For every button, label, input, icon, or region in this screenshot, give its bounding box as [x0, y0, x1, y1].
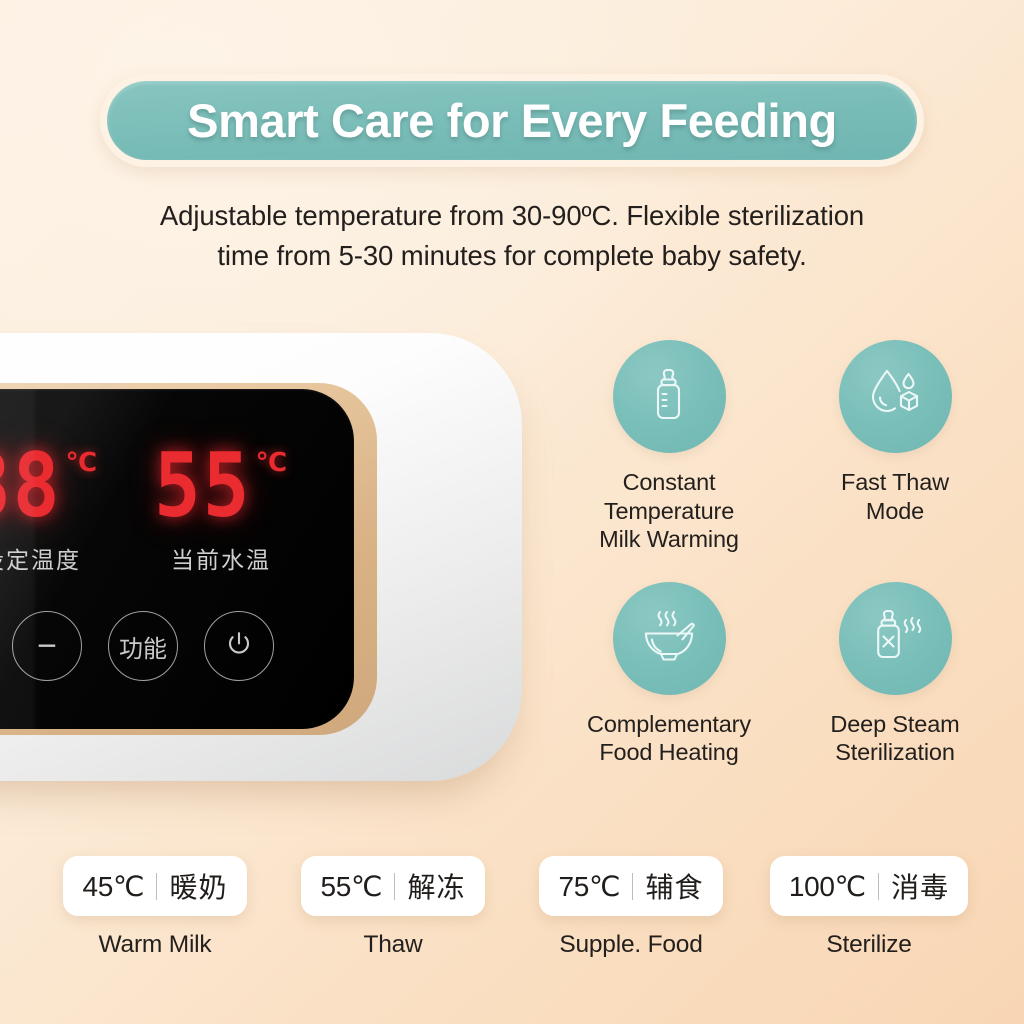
header-pill-ring: Smart Care for Every Feeding — [100, 74, 924, 167]
preset-thaw: 55℃ 解冻 Thaw — [274, 856, 512, 959]
feature-constant-temperature-milk-warming: Constant Temperature Milk Warming — [556, 340, 782, 554]
feature-label-line: Constant — [599, 468, 739, 497]
preset-warm-milk: 45℃ 暖奶 Warm Milk — [36, 856, 274, 959]
feature-label-line: Milk Warming — [599, 525, 739, 554]
steaming-bowl-spoon-icon — [637, 604, 701, 673]
preset-supplementary-food: 75℃ 辅食 Supple. Food — [512, 856, 750, 959]
chip-divider — [394, 873, 395, 900]
current-temperature-value: 55 — [154, 445, 251, 526]
device-display-panel: 38 ℃ 设定温度 55 ℃ 当前水温 + — [0, 389, 354, 729]
preset-cn-label: 消毒 — [891, 866, 949, 906]
set-temperature-unit: ℃ — [66, 447, 97, 478]
infographic-page: Smart Care for Every Feeding Adjustable … — [0, 0, 1024, 1024]
chip-divider — [156, 873, 157, 900]
preset-cn-label: 暖奶 — [169, 866, 227, 906]
minus-button[interactable]: − — [12, 611, 82, 681]
header-pill: Smart Care for Every Feeding — [107, 81, 917, 160]
feature-label-line: Fast Thaw — [841, 468, 949, 497]
preset-cn-label: 解冻 — [407, 866, 465, 906]
water-drop-ice-cube-icon — [863, 362, 927, 431]
preset-sterilize: 100℃ 消毒 Sterilize — [750, 856, 988, 959]
feature-complementary-food-heating: Complementary Food Heating — [556, 582, 782, 767]
set-temperature-value-line: 38 ℃ — [0, 445, 116, 515]
power-button[interactable] — [204, 611, 274, 681]
set-temperature-caption: 设定温度 — [0, 541, 116, 575]
feature-label-line: Temperature — [599, 497, 739, 526]
preset-en-label: Sterilize — [826, 931, 911, 959]
preset-chip[interactable]: 45℃ 暖奶 — [63, 856, 246, 916]
current-temperature-value-line: 55 ℃ — [136, 445, 306, 515]
preset-temp: 55℃ — [320, 870, 382, 903]
feature-label-line: Sterilization — [830, 738, 959, 767]
header-banner: Smart Care for Every Feeding — [0, 74, 1024, 167]
subtitle-line-1: Adjustable temperature from 30-90ºC. Fle… — [0, 196, 1024, 236]
chip-divider — [878, 873, 879, 900]
preset-en-label: Warm Milk — [99, 931, 212, 959]
current-temperature-unit: ℃ — [256, 447, 287, 478]
preset-temp: 45℃ — [82, 870, 144, 903]
feature-fast-thaw-mode: Fast Thaw Mode — [782, 340, 1008, 554]
chip-divider — [632, 873, 633, 900]
feature-label-line: Food Heating — [587, 738, 751, 767]
baby-bottle-icon — [637, 362, 701, 431]
feature-icon-circle — [839, 582, 952, 695]
current-temperature-caption: 当前水温 — [136, 541, 306, 575]
function-label: 功能 — [119, 629, 167, 664]
minus-icon: − — [37, 629, 57, 663]
preset-temperature-row: 45℃ 暖奶 Warm Milk 55℃ 解冻 Thaw 75℃ 辅食 Supp… — [36, 856, 988, 959]
feature-label: Deep Steam Sterilization — [830, 710, 959, 767]
bottle-steam-sterilize-icon — [863, 604, 927, 673]
preset-cn-label: 辅食 — [645, 866, 703, 906]
feature-label-line: Complementary — [587, 710, 751, 739]
feature-icon-circle — [613, 582, 726, 695]
page-title: Smart Care for Every Feeding — [187, 93, 837, 148]
bottle-warmer-device: 38 ℃ 设定温度 55 ℃ 当前水温 + — [0, 333, 522, 795]
current-temperature-readout: 55 ℃ 当前水温 — [136, 445, 306, 575]
feature-label: Fast Thaw Mode — [841, 468, 949, 525]
feature-icon-circle — [839, 340, 952, 453]
feature-label-line: Mode — [841, 497, 949, 526]
feature-label: Complementary Food Heating — [587, 710, 751, 767]
feature-icon-circle — [613, 340, 726, 453]
preset-chip[interactable]: 75℃ 辅食 — [539, 856, 722, 916]
preset-chip[interactable]: 100℃ 消毒 — [770, 856, 968, 916]
feature-grid: Constant Temperature Milk Warming — [556, 340, 1008, 767]
display-readouts: 38 ℃ 设定温度 55 ℃ 当前水温 — [0, 445, 354, 595]
preset-temp: 75℃ — [558, 870, 620, 903]
feature-label-line: Deep Steam — [830, 710, 959, 739]
preset-chip[interactable]: 55℃ 解冻 — [301, 856, 484, 916]
touch-key-row: + − 功能 — [0, 611, 354, 681]
feature-label: Constant Temperature Milk Warming — [599, 468, 739, 554]
set-temperature-readout: 38 ℃ 设定温度 — [0, 445, 116, 575]
set-temperature-value: 38 — [0, 445, 61, 526]
preset-en-label: Supple. Food — [559, 931, 702, 959]
subtitle-line-2: time from 5-30 minutes for complete baby… — [0, 236, 1024, 276]
feature-deep-steam-sterilization: Deep Steam Sterilization — [782, 582, 1008, 767]
function-button[interactable]: 功能 — [108, 611, 178, 681]
preset-temp: 100℃ — [789, 870, 866, 903]
subtitle: Adjustable temperature from 30-90ºC. Fle… — [0, 196, 1024, 276]
power-icon — [222, 627, 256, 666]
preset-en-label: Thaw — [363, 931, 422, 959]
